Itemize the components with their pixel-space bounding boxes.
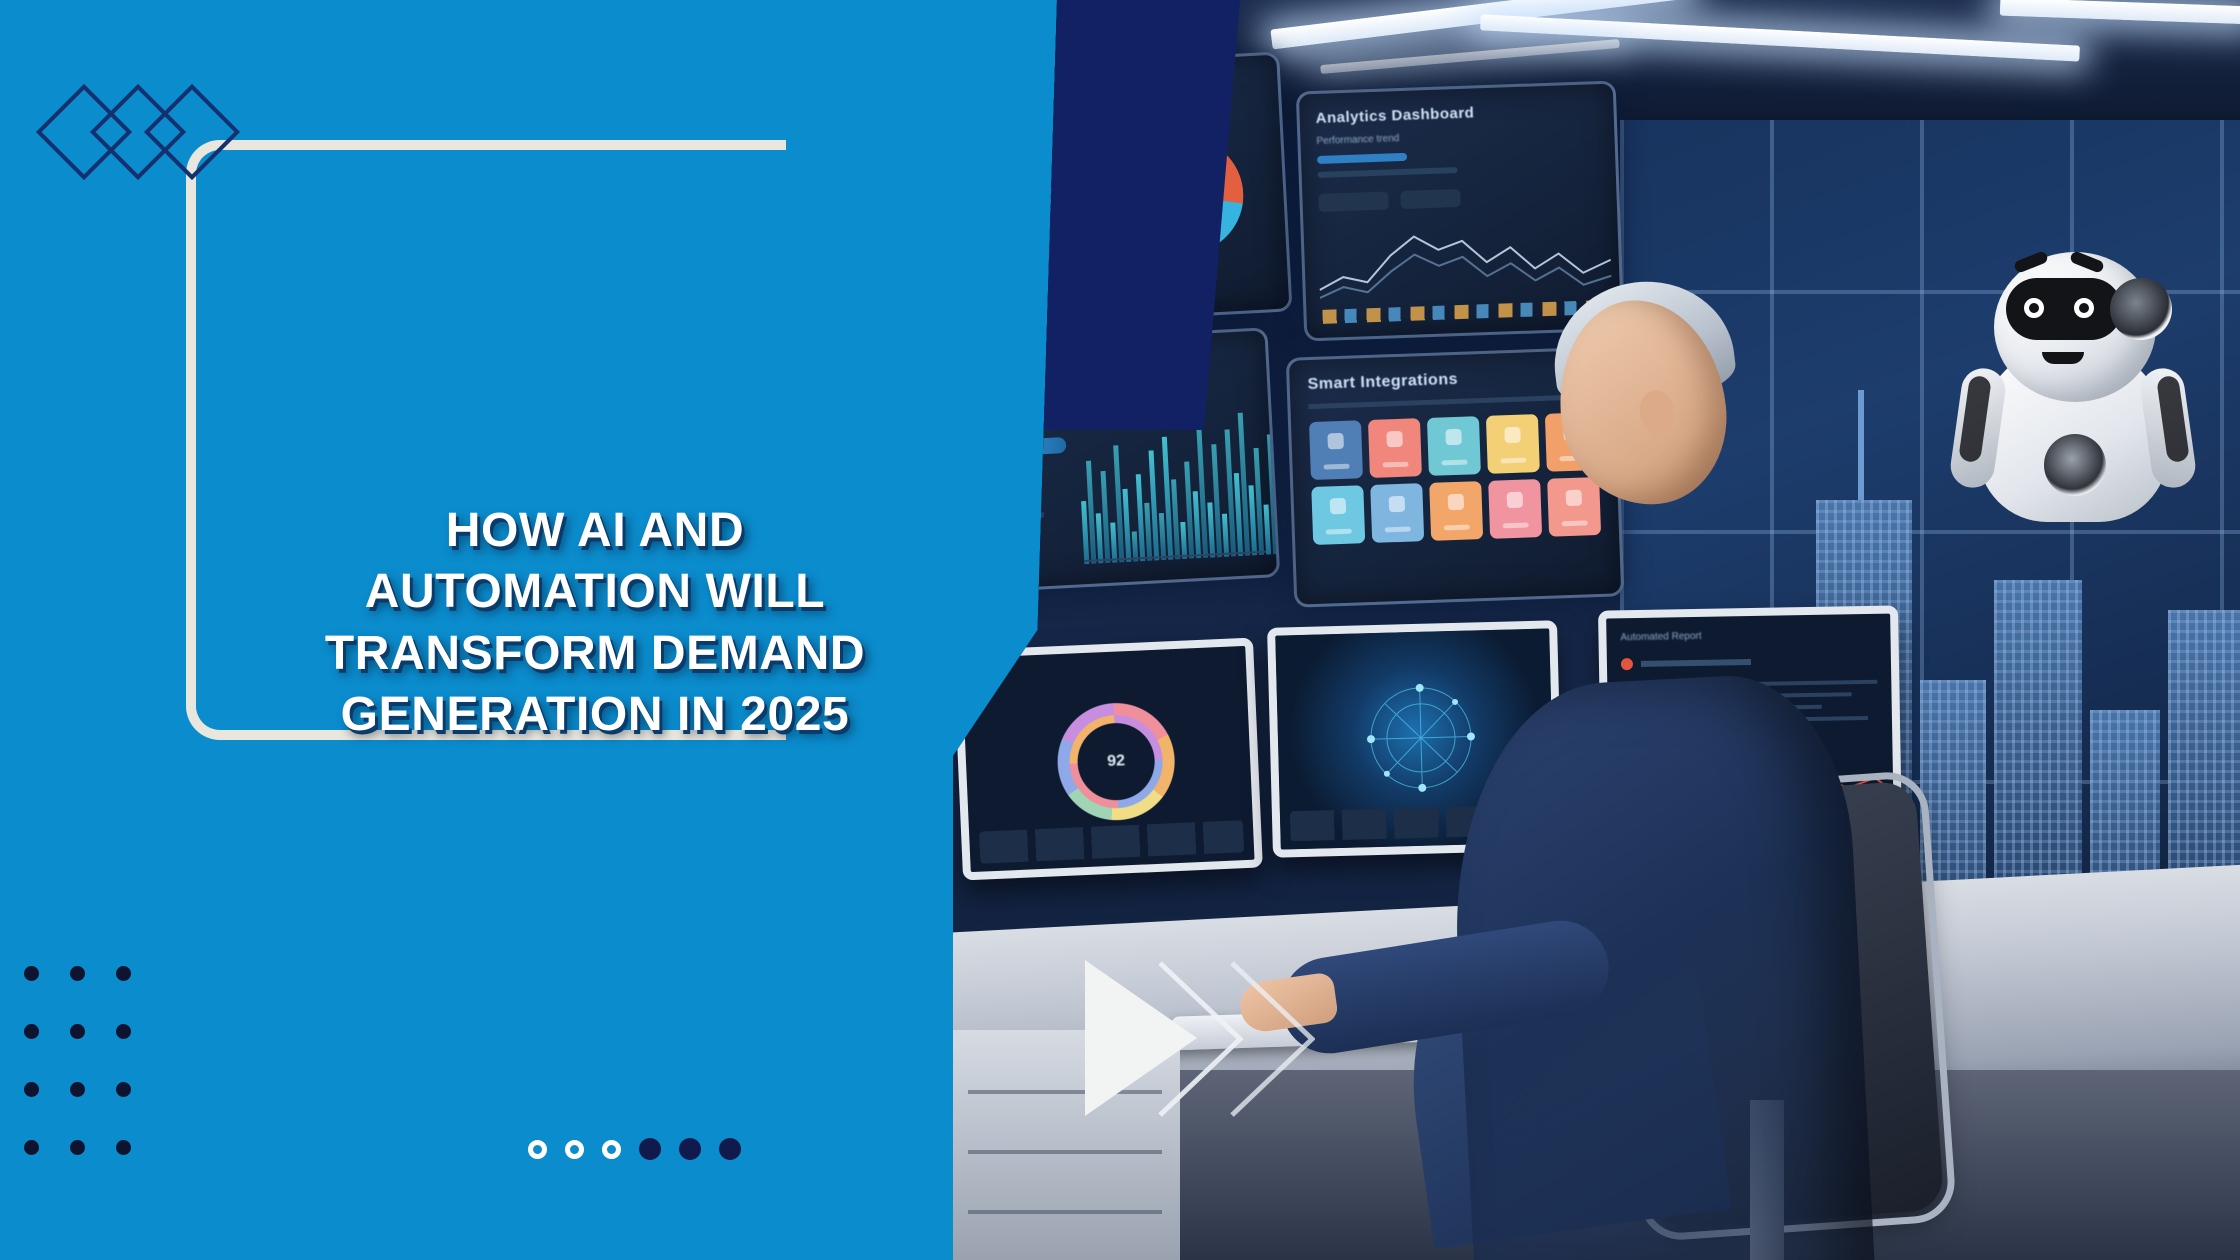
ring-center-label: 92	[1047, 693, 1185, 831]
bar	[1122, 488, 1131, 561]
integration-tile-7[interactable]	[1370, 483, 1424, 543]
pagination-dot-2[interactable]	[565, 1140, 584, 1159]
screen-title: Analytics Dashboard	[1315, 104, 1474, 127]
bar	[1110, 522, 1117, 562]
pagination-dots[interactable]	[528, 1138, 741, 1160]
integration-tile-6[interactable]	[1311, 485, 1365, 545]
navy-angle-overlay	[940, 0, 1240, 430]
page-title-line-3: TRANSFORM DEMAND	[200, 623, 990, 684]
pagination-dot-1[interactable]	[528, 1140, 547, 1159]
robot-ear-module	[2110, 278, 2172, 340]
integration-tile-1[interactable]	[1309, 420, 1363, 480]
robot-eye-right	[2074, 298, 2094, 318]
page-title-line-4: GENERATION IN 2025	[200, 684, 990, 745]
grid-dot-icon	[116, 1140, 131, 1155]
diamond-decoration	[48, 84, 228, 180]
ai-robot-assistant	[1940, 248, 2210, 578]
integration-tile-2[interactable]	[1368, 418, 1422, 478]
poster-canvas: Sales Performance Revenue overview 285 8…	[0, 0, 2240, 1260]
bar	[1159, 513, 1166, 560]
pagination-dot-6[interactable]	[719, 1138, 741, 1160]
grid-dot-icon	[116, 966, 131, 981]
robot-chest-core	[2044, 434, 2106, 496]
dot-grid-decoration	[24, 966, 162, 1198]
chevron-outline-icon	[1229, 960, 1315, 1114]
integration-tile-8[interactable]	[1429, 481, 1483, 541]
screen-subtitle: Data ingest monitor	[951, 382, 1038, 398]
integration-tile-4[interactable]	[1486, 414, 1540, 474]
line-chart	[1317, 214, 1612, 308]
grid-dot-icon	[24, 1140, 39, 1155]
wall-screen-analytics-trend[interactable]: Analytics Dashboard Performance trend	[1296, 80, 1625, 341]
desk-monitor-ring-metrics[interactable]: 92	[953, 638, 1263, 881]
grid-dot-icon	[24, 1024, 39, 1039]
page-title-line-2: AUTOMATION WILL	[200, 561, 990, 622]
robot-smile	[2042, 352, 2084, 364]
diamond-icon	[144, 84, 240, 180]
grid-dot-icon	[24, 1082, 39, 1097]
pagination-dot-4[interactable]	[639, 1138, 661, 1160]
play-button-group[interactable]	[1085, 960, 1335, 1130]
grid-dot-icon	[70, 1024, 85, 1039]
screen-title: Automated Report	[1620, 631, 1701, 643]
screen-title: Smart Integrations	[1307, 371, 1458, 394]
bar	[1180, 522, 1187, 559]
grid-dot-icon	[116, 1082, 131, 1097]
record-indicator-icon	[1621, 658, 1633, 670]
integration-tile-10[interactable]	[1547, 477, 1601, 537]
pagination-dot-5[interactable]	[679, 1138, 701, 1160]
grid-dot-icon	[70, 1140, 85, 1155]
page-title: HOW AI ANDAUTOMATION WILLTRANSFORM DEMAN…	[200, 500, 990, 746]
grid-dot-icon	[116, 1024, 131, 1039]
page-title-line-1: HOW AI AND	[200, 500, 990, 561]
bar	[1222, 513, 1229, 557]
integration-tile-grid[interactable]	[1309, 412, 1601, 545]
robot-eye-left	[2024, 298, 2044, 318]
screen-subtitle: Performance trend	[1316, 133, 1399, 147]
grid-dot-icon	[24, 966, 39, 981]
grid-dot-icon	[70, 1082, 85, 1097]
grid-dot-icon	[70, 966, 85, 981]
pagination-dot-3[interactable]	[602, 1140, 621, 1159]
integration-tile-3[interactable]	[1427, 416, 1481, 476]
integration-tile-9[interactable]	[1488, 479, 1542, 539]
